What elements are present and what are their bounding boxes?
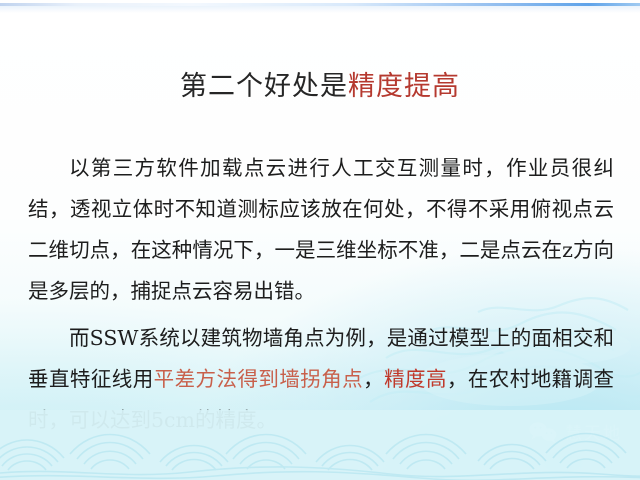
slide-title-dark: 第二个好处是 <box>180 71 348 102</box>
slide-canvas: 第二个好处是精度提高 以第三方软件加载点云进行人工交互测量时，作业员很纠结，透视… <box>0 0 640 480</box>
slide-title: 第二个好处是精度提高 <box>0 70 640 104</box>
paragraph-1-segment-1: 以第三方软件加载点云进行人工交互测量时，作业员很纠结，透视立体时不知道测标应该放… <box>28 156 614 303</box>
paragraph-2-segment-3: ， <box>363 367 384 391</box>
paragraph-2-segment-4-highlight: 精度高 <box>384 367 447 391</box>
slide-body: 以第三方软件加载点云进行人工交互测量时，作业员很纠结，透视立体时不知道测标应该放… <box>28 148 614 441</box>
paragraph-1: 以第三方软件加载点云进行人工交互测量时，作业员很纠结，透视立体时不知道测标应该放… <box>28 148 614 312</box>
wave-decoration <box>0 410 640 480</box>
slide-title-highlight: 精度提高 <box>348 71 460 102</box>
top-accent-glow <box>0 6 640 13</box>
paragraph-2-segment-2-highlight: 平差方法得到墙拐角点 <box>154 367 363 391</box>
